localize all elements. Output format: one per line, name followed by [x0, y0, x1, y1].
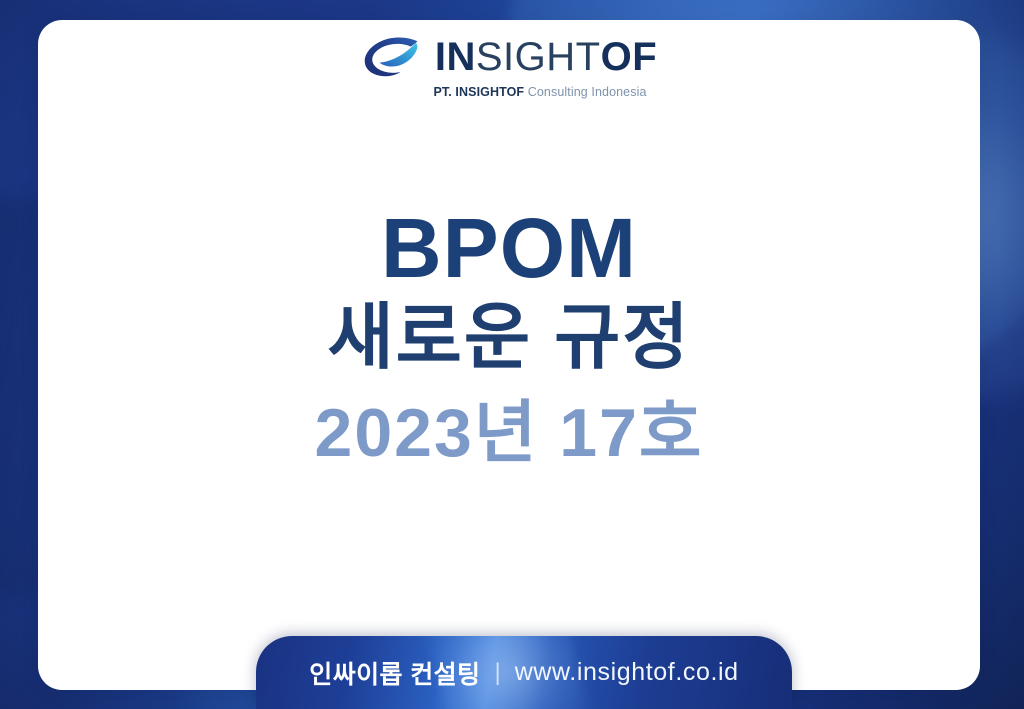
footer-bar: 인싸이롭 컨설팅 | www.insightof.co.id	[256, 636, 792, 709]
headline-issue-number: 2023년 17호	[38, 393, 980, 473]
logo-row: INSIGHTOF	[361, 34, 657, 80]
footer-content: 인싸이롭 컨설팅 | www.insightof.co.id	[309, 655, 738, 691]
footer-website-link[interactable]: www.insightof.co.id	[515, 658, 739, 687]
logo-wordmark: INSIGHTOF	[435, 37, 657, 77]
footer-company-name: 인싸이롭 컨설팅	[309, 655, 480, 691]
headline-brand: BPOM	[38, 206, 980, 292]
logo-wordmark-sight: SIGHT	[476, 35, 601, 79]
slide-root: INSIGHTOF PT. INSIGHTOF Consulting Indon…	[0, 0, 1024, 709]
logo-tagline: PT. INSIGHTOF Consulting Indonesia	[434, 85, 647, 99]
brand-logo: INSIGHTOF PT. INSIGHTOF Consulting Indon…	[38, 34, 980, 99]
logo-tagline-company: PT. INSIGHTOF	[434, 85, 525, 99]
content-card: INSIGHTOF PT. INSIGHTOF Consulting Indon…	[38, 20, 980, 690]
headline-korean-title: 새로운 규정	[38, 296, 980, 381]
insightof-leaf-e-icon	[361, 34, 423, 80]
footer-separator: |	[494, 659, 500, 687]
logo-wordmark-of: OF	[601, 35, 658, 79]
logo-tagline-descriptor: Consulting Indonesia	[528, 85, 647, 99]
logo-wordmark-in: IN	[435, 35, 476, 79]
headline-block: BPOM 새로운 규정 2023년 17호	[38, 206, 980, 473]
